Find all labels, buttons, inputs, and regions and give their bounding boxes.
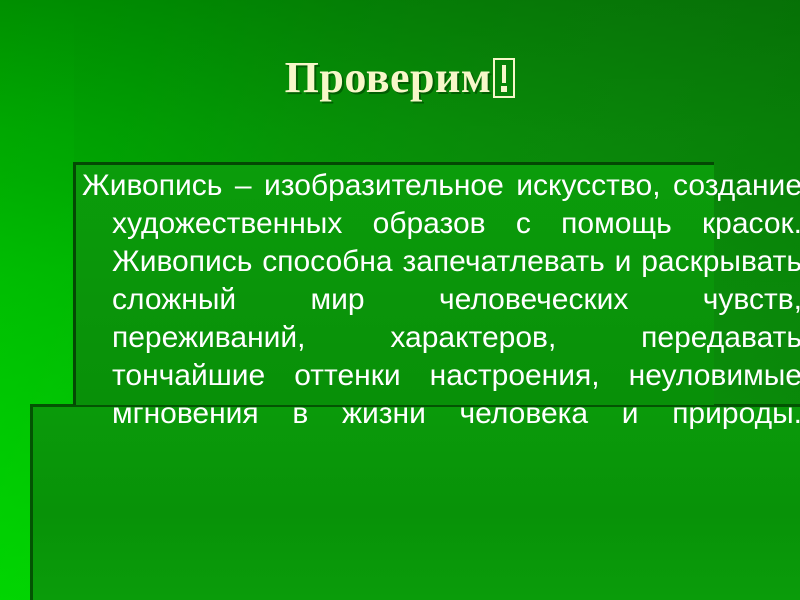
slide-title-text: Проверим — [285, 53, 492, 102]
exclamation-missing-glyph-icon — [493, 58, 515, 98]
slide-canvas: Проверим Живопись – изобразительное иску… — [0, 0, 800, 600]
slide-title[interactable]: Проверим — [0, 52, 800, 104]
slide-body-paragraph[interactable]: Живопись – изобразительное искусство, со… — [82, 167, 800, 471]
